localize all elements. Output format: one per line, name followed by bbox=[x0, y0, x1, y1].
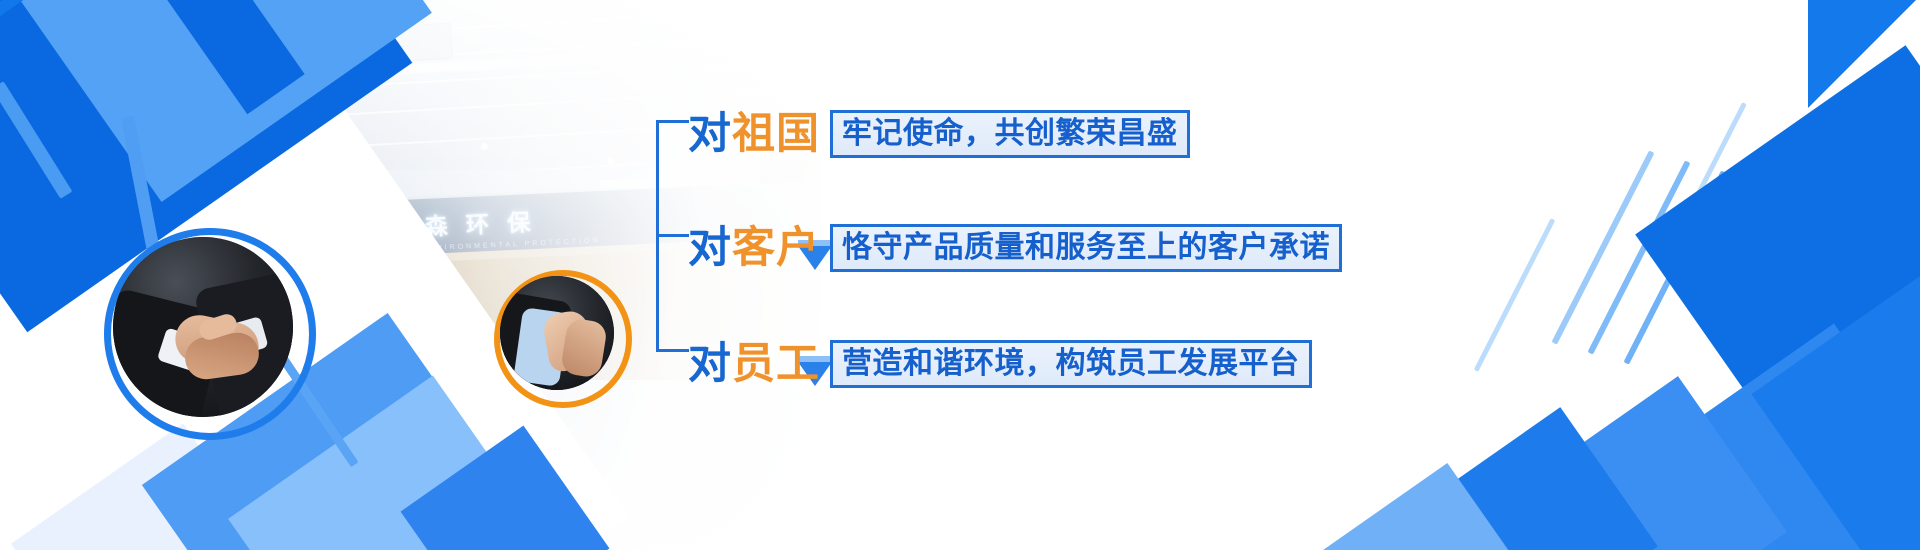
bracket-arm-3 bbox=[659, 349, 689, 352]
lead-keyword: 祖国 bbox=[732, 110, 820, 158]
bracket-arm-2 bbox=[659, 234, 689, 237]
value-row-employee: 对员工 营造和谐环境，构筑员工发展平台 bbox=[688, 336, 1312, 392]
lead-prefix: 对 bbox=[688, 224, 732, 272]
decor-diagonal-line-4 bbox=[1474, 218, 1556, 372]
bracket-arm-1 bbox=[659, 120, 689, 123]
lead-keyword: 客户 bbox=[732, 224, 820, 272]
lead-prefix: 对 bbox=[688, 340, 732, 388]
value-lead-employee: 对员工 bbox=[688, 343, 820, 386]
decor-diagonal-line-1 bbox=[1552, 150, 1655, 344]
value-row-country: 对祖国 牢记使命，共创繁荣昌盛 bbox=[688, 106, 1190, 162]
value-lead-customer: 对客户 bbox=[688, 227, 820, 270]
bracket-connector bbox=[656, 120, 689, 352]
value-lead-country: 对祖国 bbox=[688, 113, 820, 156]
value-tag-employee: 营造和谐环境，构筑员工发展平台 bbox=[830, 340, 1312, 388]
values-text-block: 对祖国 牢记使命，共创繁荣昌盛 对客户 恪守产品质量和服务至上的客户承诺 对员工… bbox=[648, 78, 1408, 398]
handshake-photo-inset bbox=[113, 237, 293, 417]
lead-keyword: 员工 bbox=[732, 340, 820, 388]
value-row-customer: 对客户 恪守产品质量和服务至上的客户承诺 bbox=[688, 220, 1342, 276]
value-tag-country: 牢记使命，共创繁荣昌盛 bbox=[830, 110, 1190, 158]
teamwork-photo-inset bbox=[500, 276, 614, 390]
value-tag-customer: 恪守产品质量和服务至上的客户承诺 bbox=[830, 224, 1342, 272]
lead-prefix: 对 bbox=[688, 110, 732, 158]
company-values-banner: 宏 森 环 保 HONGSEN ENVIRONMENTAL PROTECTION bbox=[0, 0, 1920, 550]
